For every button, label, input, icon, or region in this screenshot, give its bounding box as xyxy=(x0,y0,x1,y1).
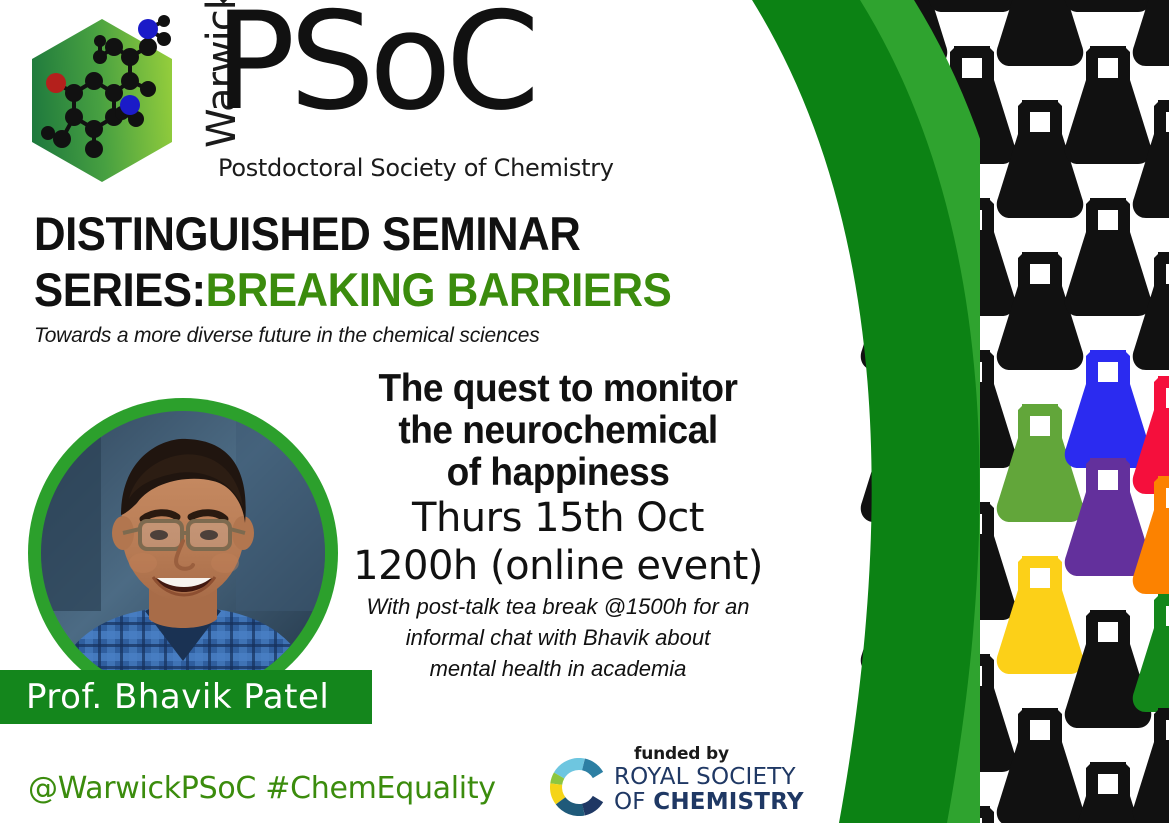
rsc-chemistry-label: CHEMISTRY xyxy=(653,789,803,815)
flask-icon xyxy=(1128,588,1169,716)
flask-icon xyxy=(1128,94,1169,222)
flask-icon xyxy=(1128,246,1169,374)
flask-icon xyxy=(1128,470,1169,598)
psoc-subtitle: Postdoctoral Society of Chemistry xyxy=(218,154,614,182)
headline-series-label: SERIES: xyxy=(34,263,206,316)
talk-title-line-1: The quest to monitor xyxy=(362,368,753,410)
psoc-logo: Warwick PSoC Postdoctoral Society of Che… xyxy=(18,8,558,188)
headline-breaking-barriers: BREAKING BARRIERS xyxy=(206,263,672,316)
talk-note-line-2: informal chat with Bhavik about xyxy=(352,624,764,652)
speaker-name: Prof. Bhavik Patel xyxy=(0,677,329,717)
headline-line-1: DISTINGUISHED SEMINAR xyxy=(34,206,685,262)
psoc-acronym: PSoC xyxy=(214,0,534,129)
flask-icon xyxy=(1128,702,1169,823)
talk-note-line-1: With post-talk tea break @1500h for an xyxy=(352,593,764,621)
flask-pattern-background xyxy=(840,0,1169,823)
talk-date: Thurs 15th Oct xyxy=(352,494,764,542)
flask-icon xyxy=(1128,0,1169,70)
rsc-of-label: OF xyxy=(614,789,653,815)
talk-note-line-3: mental health in academia xyxy=(352,655,764,683)
royal-society-of-chemistry-logo: funded by ROYAL SOCIETY OF CHEMISTRY xyxy=(548,744,772,816)
rsc-c-mark-icon xyxy=(548,758,610,816)
talk-title-line-2: the neurochemical xyxy=(362,410,753,452)
talk-time: 1200h (online event) xyxy=(352,542,764,590)
headline-subtitle: Towards a more diverse future in the che… xyxy=(34,324,734,348)
seminar-poster: Warwick PSoC Postdoctoral Society of Che… xyxy=(0,0,1169,823)
avatar xyxy=(41,411,325,695)
speaker-name-banner: Prof. Bhavik Patel xyxy=(0,670,372,724)
funded-by-label: funded by xyxy=(634,744,729,764)
rsc-name-line-1: ROYAL SOCIETY xyxy=(614,764,796,790)
seminar-headline: DISTINGUISHED SEMINAR SERIES:BREAKING BA… xyxy=(34,206,734,348)
talk-title-line-3: of happiness xyxy=(362,452,753,494)
social-hashtags: @WarwickPSoC #ChemEquality xyxy=(28,771,496,806)
rsc-name-line-2: OF CHEMISTRY xyxy=(614,789,804,815)
serotonin-molecule-icon xyxy=(18,13,186,188)
headline-line-2: SERIES:BREAKING BARRIERS xyxy=(34,262,685,318)
speaker-portrait xyxy=(28,398,338,708)
talk-details: The quest to monitor the neurochemical o… xyxy=(352,368,764,683)
